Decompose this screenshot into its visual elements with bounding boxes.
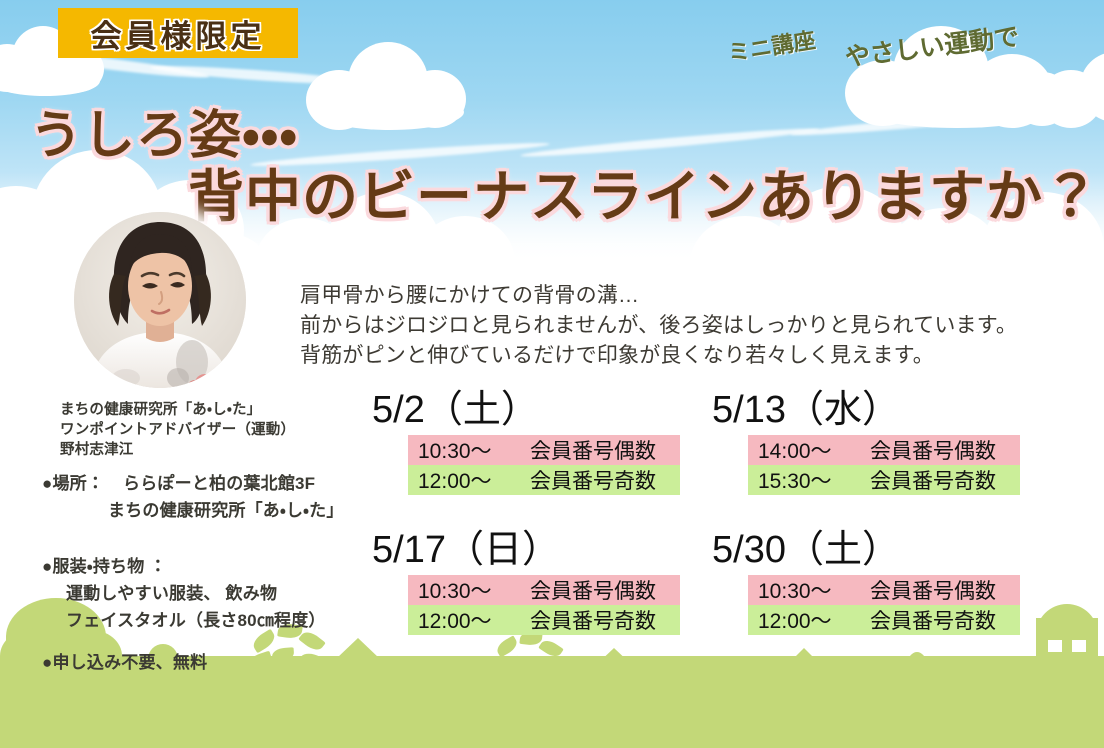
info-attire-label: ●服装・持ち物 ： — [42, 553, 326, 580]
schedule-time: 12:00〜 — [758, 605, 870, 635]
info-venue-line-1: ららぽーと柏の葉北館3F — [109, 474, 315, 493]
contrail-wisp — [790, 106, 1060, 138]
schedule-row: 12:00〜 会員番号奇数 — [408, 605, 680, 635]
schedule-row: 10:30〜 会員番号偶数 — [748, 575, 1020, 605]
title-line-2: 背中のビーナスラインありますか？ — [188, 152, 1100, 233]
schedule-time: 12:00〜 — [418, 465, 530, 495]
info-attire-line-2: フェイスタオル（長さ80㎝程度） — [42, 607, 326, 634]
schedule-card: 5/17（日） 10:30〜 会員番号偶数 12:00〜 会員番号奇数 — [372, 528, 702, 668]
schedule-time: 14:00〜 — [758, 435, 870, 465]
schedule-time: 10:30〜 — [418, 575, 530, 605]
schedule-audience: 会員番号偶数 — [870, 435, 996, 465]
schedule-rows: 10:30〜 会員番号偶数 12:00〜 会員番号奇数 — [408, 435, 680, 495]
info-venue-label: ●場所： ららぽーと柏の葉北館3F — [42, 470, 344, 497]
schedule-row: 12:00〜 会員番号奇数 — [408, 465, 680, 495]
info-venue-line-2: まちの健康研究所「あ・し・た」 — [42, 497, 344, 524]
info-attire-line-1: 運動しやすい服装、 飲み物 — [42, 580, 326, 607]
schedule-audience: 会員番号奇数 — [530, 605, 656, 635]
schedule-row: 10:30〜 会員番号偶数 — [408, 575, 680, 605]
schedule-row: 12:00〜 会員番号奇数 — [748, 605, 1020, 635]
portrait-illustration — [74, 212, 246, 388]
schedule-row: 14:00〜 会員番号偶数 — [748, 435, 1020, 465]
schedule-time: 10:30〜 — [418, 435, 530, 465]
schedule-rows: 10:30〜 会員番号偶数 12:00〜 会員番号奇数 — [408, 575, 680, 635]
lead-line-2: 前からはジロジロと見られませんが、後ろ姿はしっかりと見られています。 — [300, 311, 1060, 341]
cloud-shape — [300, 40, 480, 132]
schedule-date: 5/13（水） — [712, 388, 1042, 432]
building-window — [1072, 640, 1086, 652]
schedule-date: 5/17（日） — [372, 528, 702, 572]
members-only-badge: 会員様限定 — [58, 8, 298, 58]
info-no-signup: ●申し込み不要、無料 — [42, 648, 207, 673]
poster-canvas: 会員様限定 ミニ講座 やさしい運動で うしろ姿・・・ 背中のビーナスラインありま… — [0, 0, 1104, 748]
schedule-row: 10:30〜 会員番号偶数 — [408, 435, 680, 465]
schedule-card: 5/30（土） 10:30〜 会員番号偶数 12:00〜 会員番号奇数 — [712, 528, 1042, 668]
schedule-card: 5/2（土） 10:30〜 会員番号偶数 12:00〜 会員番号奇数 — [372, 388, 702, 528]
schedule-audience: 会員番号奇数 — [870, 605, 996, 635]
lead-line-1: 肩甲骨から腰にかけての背骨の溝… — [300, 281, 1060, 311]
schedule-rows: 10:30〜 会員番号偶数 12:00〜 会員番号奇数 — [748, 575, 1020, 635]
schedule-audience: 会員番号偶数 — [530, 435, 656, 465]
schedule-rows: 14:00〜 会員番号偶数 15:30〜 会員番号奇数 — [748, 435, 1020, 495]
schedule-card: 5/13（水） 14:00〜 会員番号偶数 15:30〜 会員番号奇数 — [712, 388, 1042, 528]
presenter-portrait-photo — [74, 212, 246, 388]
schedule-date: 5/30（土） — [712, 528, 1042, 572]
schedule-row: 15:30〜 会員番号奇数 — [748, 465, 1020, 495]
info-attire: ●服装・持ち物 ： 運動しやすい服装、 飲み物 フェイスタオル（長さ80㎝程度） — [42, 553, 326, 634]
presenter-credits: まちの健康研究所「あ・し・た」 ワンポイントアドバイザー（運動） 野村志津江 — [60, 400, 295, 460]
info-venue: ●場所： ららぽーと柏の葉北館3F まちの健康研究所「あ・し・た」 — [42, 470, 344, 524]
lead-line-3: 背筋がピンと伸びているだけで印象が良くなり若々しく見えます。 — [300, 341, 1060, 371]
members-only-badge-label: 会員様限定 — [91, 11, 266, 56]
schedule-time: 10:30〜 — [758, 575, 870, 605]
schedule-audience: 会員番号奇数 — [870, 465, 996, 495]
presenter-name: 野村志津江 — [60, 440, 295, 460]
schedule-time: 12:00〜 — [418, 605, 530, 635]
presenter-role: ワンポイントアドバイザー（運動） — [60, 420, 295, 440]
schedule-grid: 5/2（土） 10:30〜 会員番号偶数 12:00〜 会員番号奇数 5/13（… — [372, 388, 1072, 668]
schedule-audience: 会員番号奇数 — [530, 465, 656, 495]
schedule-time: 15:30〜 — [758, 465, 870, 495]
lead-paragraph: 肩甲骨から腰にかけての背骨の溝… 前からはジロジロと見られませんが、後ろ姿はしっ… — [300, 281, 1060, 371]
schedule-audience: 会員番号偶数 — [530, 575, 656, 605]
schedule-audience: 会員番号偶数 — [870, 575, 996, 605]
info-venue-label-text: ●場所： — [42, 474, 104, 493]
presenter-org: まちの健康研究所「あ・し・た」 — [60, 400, 295, 420]
schedule-date: 5/2（土） — [372, 388, 702, 432]
